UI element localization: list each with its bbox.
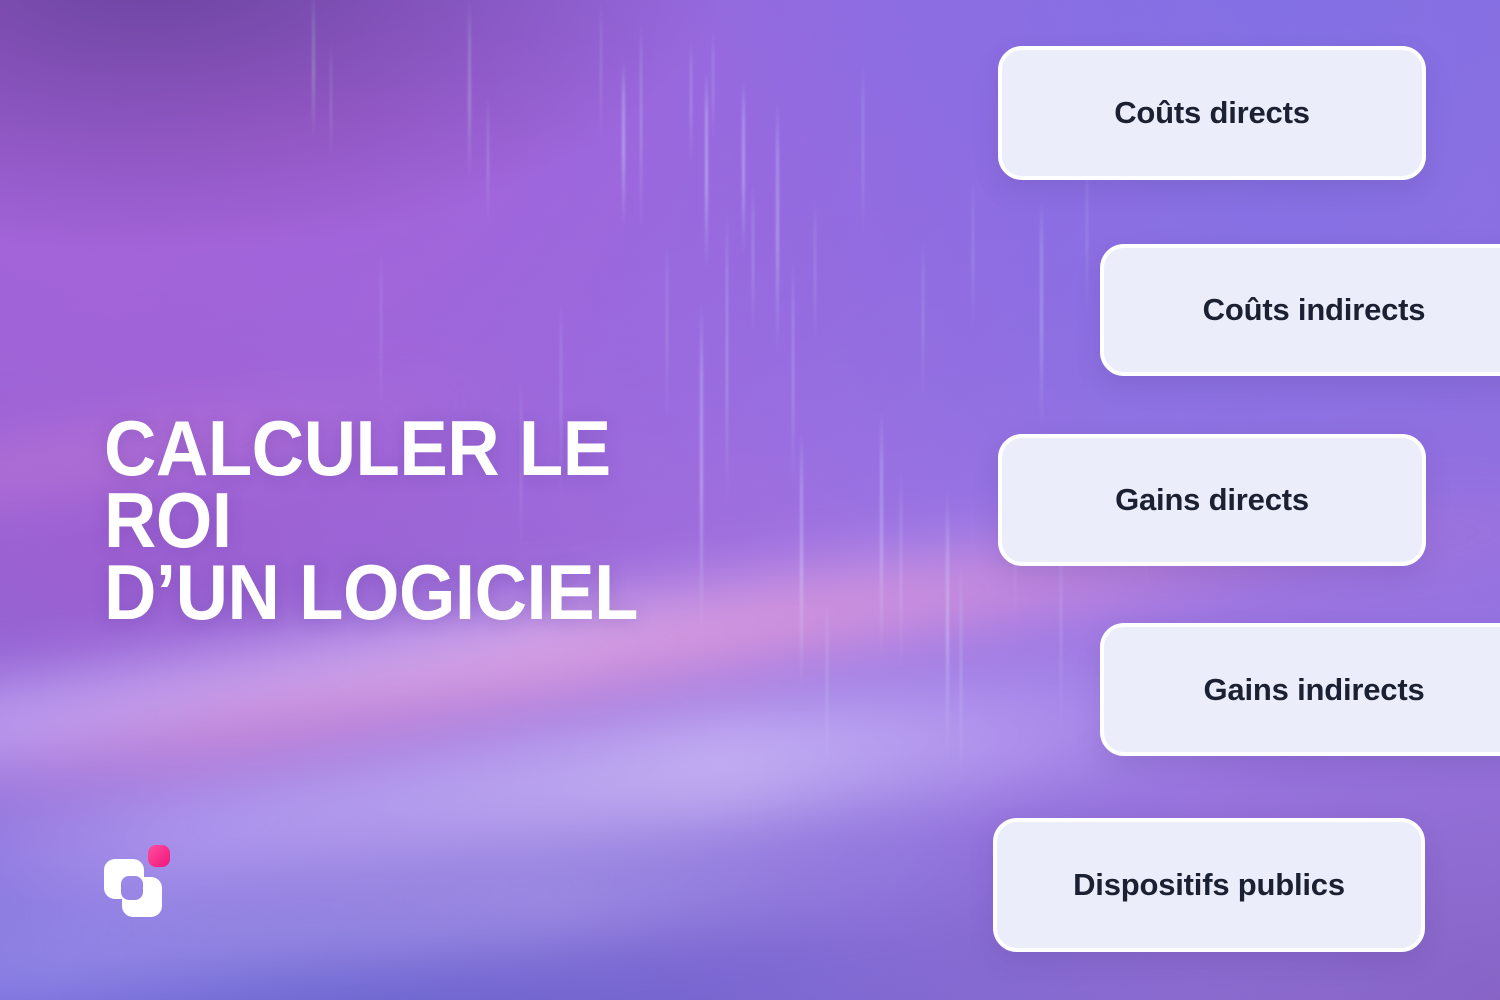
card-label: Coûts indirects xyxy=(1203,292,1426,328)
card-label: Gains directs xyxy=(1115,482,1309,518)
card-label: Coûts directs xyxy=(1114,95,1310,131)
slide-canvas: CALCULER LE ROI D’UN LOGICIEL Co xyxy=(0,0,1500,1000)
card-couts-indirects[interactable]: Coûts indirects xyxy=(1100,244,1500,376)
card-label: Gains indirects xyxy=(1204,672,1425,708)
card-dispositifs-publics[interactable]: Dispositifs publics xyxy=(993,818,1425,952)
card-couts-directs[interactable]: Coûts directs xyxy=(998,46,1426,180)
card-label: Dispositifs publics xyxy=(1073,867,1345,903)
card-gains-indirects[interactable]: Gains indirects xyxy=(1100,623,1500,756)
card-list: Coûts directs Coûts indirects Gains dire… xyxy=(0,0,1500,1000)
card-gains-directs[interactable]: Gains directs xyxy=(998,434,1426,566)
